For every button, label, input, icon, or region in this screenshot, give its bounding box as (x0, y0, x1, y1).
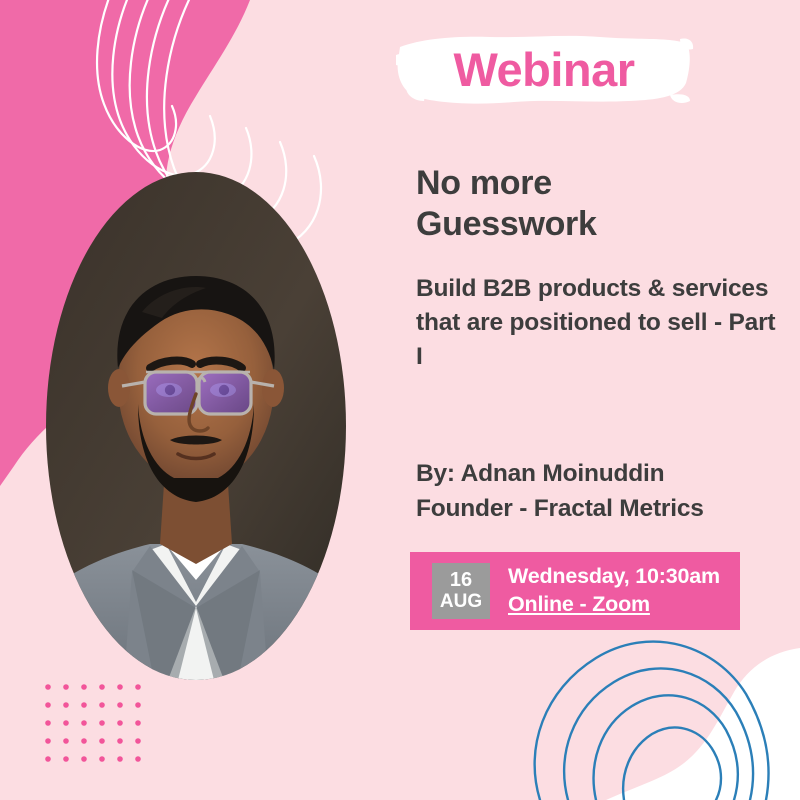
date-badge-day: 16 (450, 570, 472, 592)
event-details-banner: 16 AUG Wednesday, 10:30am Online - Zoom (410, 552, 740, 630)
date-badge: 16 AUG (432, 563, 490, 619)
speaker-credit: By: Adnan Moinuddin Founder - Fractal Me… (416, 457, 776, 527)
speaker-name: By: Adnan Moinuddin (416, 457, 776, 492)
webinar-poster: Webinar No more Guesswork Build B2B prod… (0, 0, 800, 800)
content-column: Webinar No more Guesswork Build B2B prod… (416, 0, 784, 800)
speaker-portrait (46, 172, 346, 680)
event-location-link[interactable]: Online - Zoom (508, 591, 720, 619)
speaker-portrait-image (46, 172, 346, 680)
webinar-badge: Webinar (394, 25, 694, 113)
bottom-left-dot-grid (45, 684, 141, 762)
page-title: No more Guesswork (416, 163, 776, 246)
speaker-role: Founder - Fractal Metrics (416, 492, 776, 527)
event-datetime: Wednesday, 10:30am (508, 563, 720, 591)
date-badge-month: AUG (440, 592, 482, 613)
webinar-title: Webinar (394, 25, 694, 113)
event-schedule: Wednesday, 10:30am Online - Zoom (508, 563, 720, 619)
page-subtitle: Build B2B products & services that are p… (416, 272, 788, 373)
